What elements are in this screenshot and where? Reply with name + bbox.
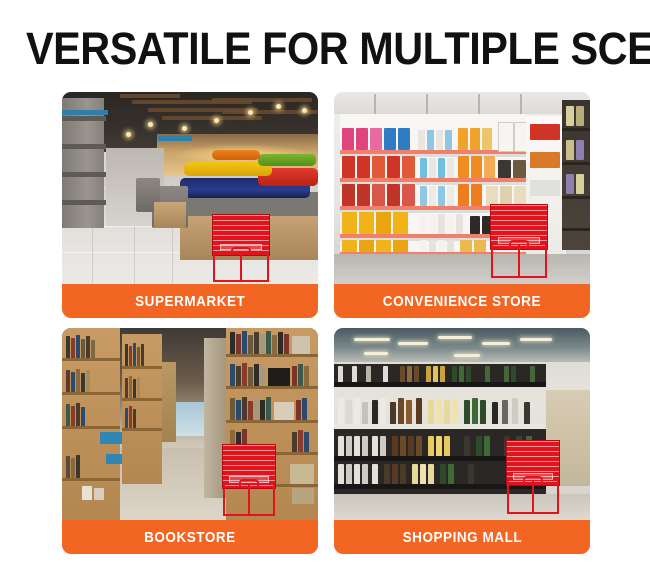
shopping-mall-scene-image — [334, 328, 590, 520]
convenience-store-scene-image — [334, 92, 590, 284]
page-title: VERSATILE FOR MULTIPLE SCENES — [26, 24, 624, 74]
product-shopping-basket-convenience-store — [490, 204, 548, 278]
scene-card-shopping-mall[interactable]: SHOPPING MALL — [334, 328, 590, 554]
supermarket-scene-image — [62, 92, 318, 284]
scene-grid: SUPERMARKET — [62, 92, 590, 554]
product-shopping-basket-bookstore — [222, 444, 276, 516]
scene-label-supermarket: SUPERMARKET — [62, 284, 318, 318]
scene-card-bookstore[interactable]: BOOKSTORE — [62, 328, 318, 554]
scene-label-convenience-store: CONVENIENCE STORE — [334, 284, 590, 318]
scene-label-bookstore: BOOKSTORE — [62, 520, 318, 554]
scene-label-text: SUPERMARKET — [135, 293, 245, 310]
scene-card-supermarket[interactable]: SUPERMARKET — [62, 92, 318, 318]
scene-label-text: CONVENIENCE STORE — [383, 293, 541, 310]
bookstore-scene-image — [62, 328, 318, 520]
poster-root: VERSATILE FOR MULTIPLE SCENES — [0, 0, 650, 581]
scene-label-shopping-mall: SHOPPING MALL — [334, 520, 590, 554]
scene-card-convenience-store[interactable]: CONVENIENCE STORE — [334, 92, 590, 318]
product-shopping-basket-shopping-mall — [506, 440, 560, 514]
scene-label-text: SHOPPING MALL — [402, 529, 522, 546]
scene-label-text: BOOKSTORE — [144, 529, 236, 546]
product-shopping-basket-supermarket — [212, 214, 270, 282]
